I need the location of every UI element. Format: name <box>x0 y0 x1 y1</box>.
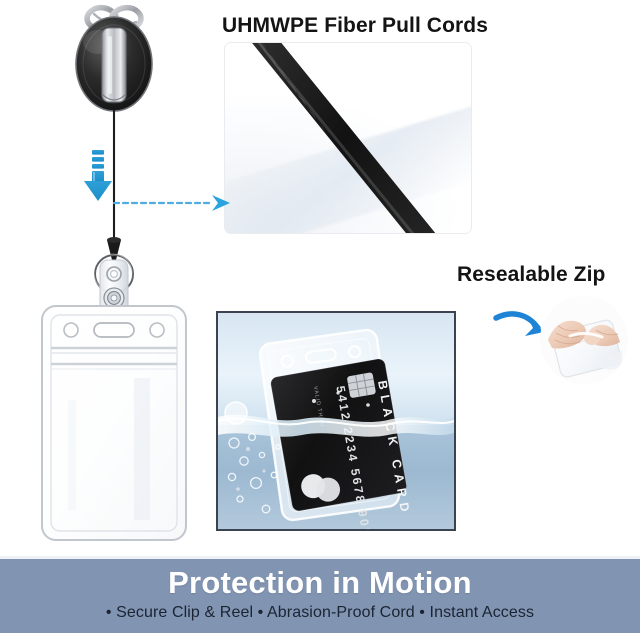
pouch-hole-right <box>150 323 164 337</box>
underwater-card-illustration: BLACK CARD 5412 2234 5678 9010 VALID THR… <box>218 313 454 529</box>
photo-panel-pull-cord <box>224 42 472 234</box>
pouch-center-slot <box>94 323 134 337</box>
clear-card-holder-pouch <box>38 300 190 546</box>
banner-title: Protection in Motion <box>0 565 640 601</box>
pouch-hole-left <box>64 323 78 337</box>
braided-cord-illustration <box>225 43 471 233</box>
photo-zip-closing-hands <box>540 296 628 384</box>
dashed-right-arrow-icon <box>112 188 234 218</box>
surface-bubble <box>225 402 247 424</box>
photo-panel-underwater-card: BLACK CARD 5412 2234 5678 9010 VALID THR… <box>216 311 456 531</box>
heading-resealable-zip: Resealable Zip <box>457 263 605 287</box>
bottom-banner: Protection in Motion • Secure Clip & Ree… <box>0 556 640 633</box>
infographic-canvas: UHMWPE Fiber Pull Cords <box>0 0 640 633</box>
banner-features-line: • Secure Clip & Reel • Abrasion-Proof Co… <box>0 604 640 622</box>
heading-uhmwpe-fiber-pull-cords: UHMWPE Fiber Pull Cords <box>222 14 488 38</box>
belt-clip-icon <box>102 28 126 102</box>
